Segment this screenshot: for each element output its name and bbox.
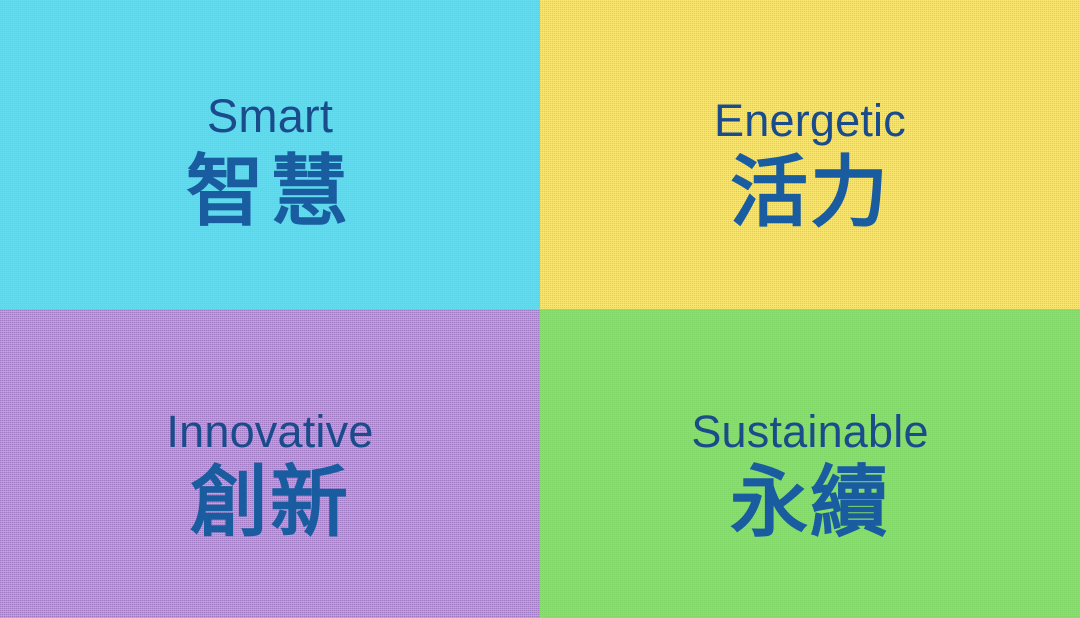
label-stack-energetic: Energetic 活力 bbox=[714, 98, 906, 232]
label-stack-smart: Smart 智慧 bbox=[186, 92, 354, 231]
label-stack-innovative: Innovative 創新 bbox=[166, 409, 373, 542]
label-stack-sustainable: Sustainable 永續 bbox=[691, 409, 928, 542]
chinese-label-energetic: 活力 bbox=[730, 154, 890, 232]
quadrant-smart: Smart 智慧 bbox=[0, 0, 540, 309]
chinese-label-innovative: 創新 bbox=[190, 464, 350, 542]
english-label-innovative: Innovative bbox=[166, 409, 373, 454]
quadrant-energetic: Energetic 活力 bbox=[540, 0, 1080, 309]
chinese-label-smart: 智慧 bbox=[186, 153, 354, 231]
quadrant-innovative: Innovative 創新 bbox=[0, 309, 540, 618]
brand-values-grid: Smart 智慧 Energetic 活力 Innovative 創新 Sust… bbox=[0, 0, 1080, 618]
english-label-smart: Smart bbox=[207, 92, 333, 139]
chinese-label-sustainable: 永續 bbox=[730, 464, 890, 542]
english-label-sustainable: Sustainable bbox=[691, 409, 928, 454]
english-label-energetic: Energetic bbox=[714, 98, 906, 143]
quadrant-sustainable: Sustainable 永續 bbox=[540, 309, 1080, 618]
